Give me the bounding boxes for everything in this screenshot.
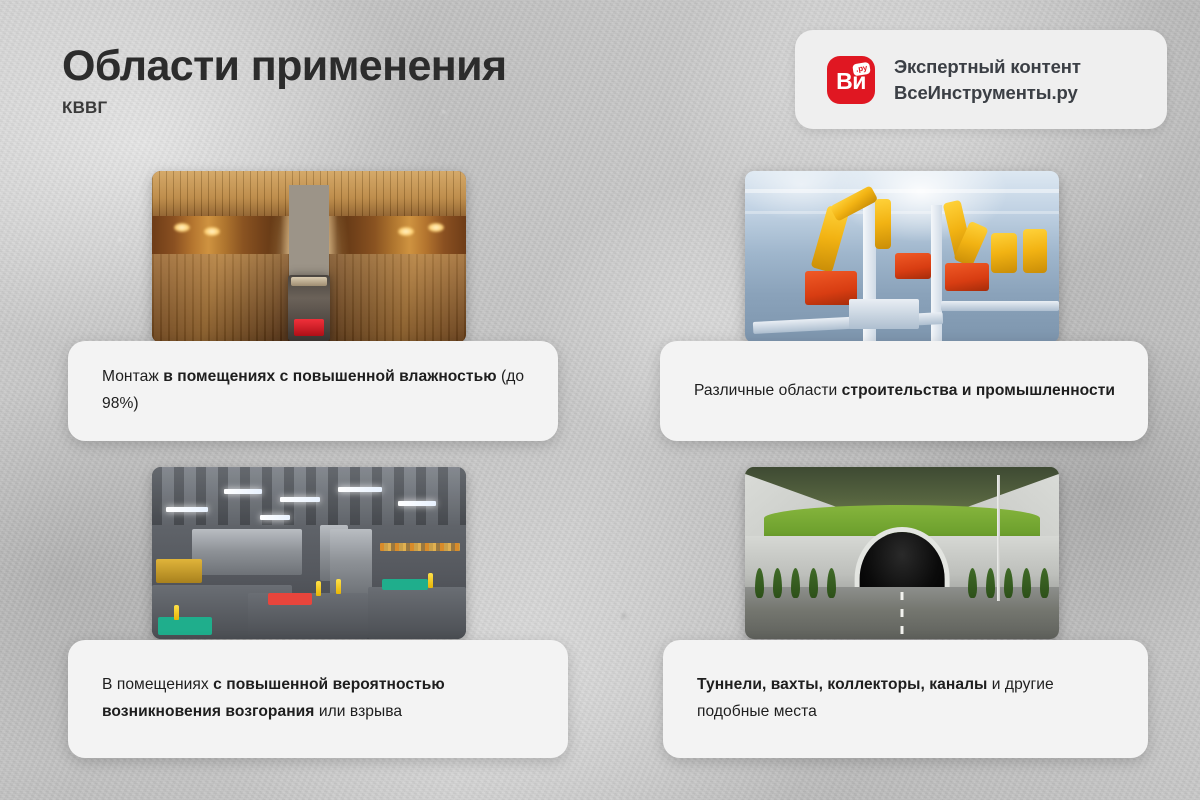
sauce-bottle	[336, 579, 341, 594]
sauna-lamp-icon	[204, 227, 220, 236]
kitchen-spice-shelf	[380, 543, 460, 551]
ceiling-light-icon	[398, 501, 436, 506]
vseinstrumenty-logo-icon: Ви .ру	[827, 56, 875, 104]
robot-base	[895, 253, 931, 279]
card-3-text: В помещениях с повышенной вероятностью в…	[68, 672, 568, 726]
application-card-2: Различные области строительства и промыш…	[660, 341, 1148, 441]
sauna-lamp-icon	[428, 223, 444, 232]
factory-beam	[745, 211, 1059, 214]
header-block: Области применения КВВГ	[62, 44, 507, 118]
cutting-board-green	[158, 617, 212, 635]
sauce-bottle	[316, 581, 321, 596]
application-card-3: В помещениях с повышенной вероятностью в…	[68, 640, 568, 758]
brand-text-lines: Экспертный контент ВсеИнструменты.ру	[894, 55, 1081, 104]
application-card-4: Туннели, вахты, коллекторы, каналы и дру…	[663, 640, 1148, 758]
ceiling-light-icon	[166, 507, 208, 512]
kitchen-backsplash	[192, 529, 302, 575]
sauna-lamp-icon	[398, 227, 414, 236]
page-title: Области применения	[62, 44, 507, 89]
slide-root: Области применения КВВГ Ви .ру Экспертны…	[0, 0, 1200, 800]
factory-beam	[745, 189, 1059, 193]
sauna-interior-photo	[152, 171, 466, 343]
ceiling-light-icon	[224, 489, 262, 494]
brand-line-1: Экспертный контент	[894, 55, 1081, 79]
card-2-text: Различные области строительства и промыш…	[660, 378, 1145, 405]
robot-arm	[991, 233, 1017, 273]
road-tunnel-photo	[745, 467, 1059, 639]
ceiling-light-icon	[260, 515, 290, 520]
card-4-text: Туннели, вахты, коллекторы, каналы и дру…	[663, 672, 1148, 726]
logo-tld-badge: .ру	[852, 61, 871, 76]
brand-line-2: ВсеИнструменты.ру	[894, 81, 1081, 105]
industrial-robots-photo	[745, 171, 1059, 343]
cutting-board-red	[268, 593, 312, 605]
brand-badge[interactable]: Ви .ру Экспертный контент ВсеИнструменты…	[795, 30, 1167, 129]
kitchen-yellow-cabinet	[156, 559, 202, 583]
conveyor-rail	[941, 301, 1059, 311]
work-table	[849, 299, 919, 329]
robot-arm	[875, 199, 891, 249]
ceiling-light-icon	[338, 487, 382, 492]
kitchen-counter	[368, 587, 466, 639]
page-subtitle: КВВГ	[62, 98, 507, 118]
application-card-1: Монтаж в помещениях с повышенной влажнос…	[68, 341, 558, 441]
sauna-lamp-icon	[174, 223, 190, 232]
robot-base	[945, 263, 989, 291]
robot-arm	[1023, 229, 1047, 273]
sauce-bottle	[174, 605, 179, 620]
commercial-kitchen-photo	[152, 467, 466, 639]
card-1-text: Монтаж в помещениях с повышенной влажнос…	[68, 364, 558, 418]
ceiling-light-icon	[280, 497, 320, 502]
road-lane-marking	[901, 592, 904, 636]
light-pole	[997, 475, 1000, 601]
cutting-board-green	[382, 579, 428, 590]
sauce-bottle	[428, 573, 433, 588]
sauna-stove	[288, 275, 330, 341]
